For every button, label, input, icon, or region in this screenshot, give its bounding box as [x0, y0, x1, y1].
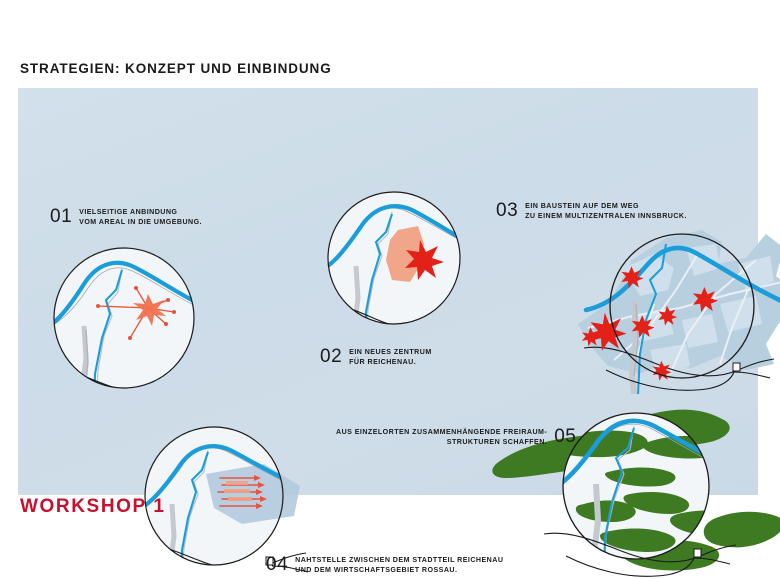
caption-line-2: FÜR REICHENAU. [349, 358, 416, 366]
caption-line-1: AUS EINZELORTEN ZUSAMMENHÄNGENDE FREIRAU… [336, 428, 547, 436]
caption-text-03: EIN BAUSTEIN AUF DEM WEG ZU EINEM MULTIZ… [525, 202, 687, 221]
caption-text-04: NAHTSTELLE ZWISCHEN DEM STADTTEIL REICHE… [295, 556, 503, 575]
caption-line-1: EIN BAUSTEIN AUF DEM WEG [525, 202, 639, 210]
caption-text-01: VIELSEITIGE ANBINDUNG VOM AREAL IN DIE U… [79, 208, 202, 227]
caption-line-2: UND DEM WIRTSCHAFTSGEBIET ROSSAU. [295, 566, 457, 574]
page-title: STRATEGIEN: KONZEPT UND EINBINDUNG [20, 61, 332, 76]
caption-number-02: 02 [320, 347, 342, 366]
caption-number-03: 03 [496, 201, 518, 220]
caption-line-2: ZU EINEM MULTIZENTRALEN INNSBRUCK. [525, 212, 687, 220]
caption-item-02: 02 EIN NEUES ZENTRUM FÜR REICHENAU. [320, 346, 432, 365]
caption-line-2: STRUKTUREN SCHAFFEN. [447, 438, 547, 446]
caption-item-01: 01 VIELSEITIGE ANBINDUNG VOM AREAL IN DI… [50, 206, 202, 225]
caption-text-02: EIN NEUES ZENTRUM FÜR REICHENAU. [349, 348, 432, 367]
caption-line-1: VIELSEITIGE ANBINDUNG [79, 208, 177, 216]
caption-line-1: NAHTSTELLE ZWISCHEN DEM STADTTEIL REICHE… [295, 556, 503, 564]
caption-number-01: 01 [50, 207, 72, 226]
diagram-05-open-space-structures [488, 398, 780, 578]
caption-text-05: AUS EINZELORTEN ZUSAMMENHÄNGENDE FREIRAU… [336, 428, 547, 447]
diagram-03-multicentral-innsbruck [570, 224, 780, 394]
caption-item-04: 04 NAHTSTELLE ZWISCHEN DEM STADTTEIL REI… [266, 554, 503, 573]
caption-item-05: AUS EINZELORTEN ZUSAMMENHÄNGENDE FREIRAU… [336, 426, 576, 445]
caption-number-04: 04 [266, 555, 288, 574]
caption-item-03: 03 EIN BAUSTEIN AUF DEM WEG ZU EINEM MUL… [496, 200, 687, 219]
caption-number-05: 05 [554, 427, 576, 446]
caption-line-1: EIN NEUES ZENTRUM [349, 348, 432, 356]
caption-line-2: VOM AREAL IN DIE UMGEBUNG. [79, 218, 202, 226]
diagram-02-new-centre [306, 186, 486, 346]
footer-workshop-label: WORKSHOP 1 [20, 496, 166, 518]
diagram-01-multidirectional-connection [26, 240, 226, 410]
strategy-board-panel: 01 VIELSEITIGE ANBINDUNG VOM AREAL IN DI… [18, 88, 758, 495]
